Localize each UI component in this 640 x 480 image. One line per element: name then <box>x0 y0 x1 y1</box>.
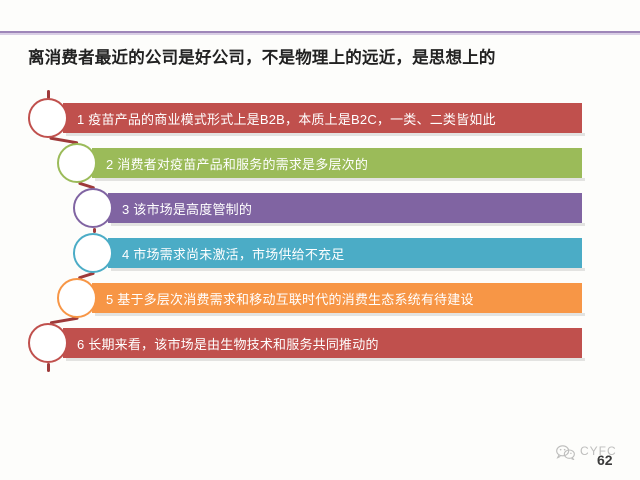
funnel-bar-label: 6 长期来看，该市场是由生物技术和服务共同推动的 <box>63 334 379 353</box>
funnel-bar-label: 5 基于多层次消费需求和移动互联时代的消费生态系统有待建设 <box>92 289 474 308</box>
funnel-bar-4[interactable]: 4 市场需求尚未激活，市场供给不充足 <box>108 238 582 268</box>
funnel-row: 5 基于多层次消费需求和移动互联时代的消费生态系统有待建设 <box>0 283 640 313</box>
bar-shadow <box>95 313 585 316</box>
step-bubble-6[interactable] <box>28 323 68 363</box>
slide-canvas: 离消费者最近的公司是好公司，不是物理上的远近，是思想上的 1 疫苗产品的商业模式… <box>0 0 640 480</box>
funnel-bar-2[interactable]: 2 消费者对疫苗产品和服务的需求是多层次的 <box>92 148 582 178</box>
funnel-bar-label: 1 疫苗产品的商业模式形式上是B2B，本质上是B2C，一类、二类皆如此 <box>63 109 496 128</box>
bar-shadow <box>95 178 585 181</box>
funnel-list: 1 疫苗产品的商业模式形式上是B2B，本质上是B2C，一类、二类皆如此2 消费者… <box>0 0 640 480</box>
bar-shadow <box>66 358 585 361</box>
funnel-row: 6 长期来看，该市场是由生物技术和服务共同推动的 <box>0 328 640 358</box>
funnel-row: 2 消费者对疫苗产品和服务的需求是多层次的 <box>0 148 640 178</box>
funnel-bar-1[interactable]: 1 疫苗产品的商业模式形式上是B2B，本质上是B2C，一类、二类皆如此 <box>63 103 582 133</box>
wechat-icon <box>556 445 576 460</box>
step-bubble-1[interactable] <box>28 98 68 138</box>
step-bubble-3[interactable] <box>73 188 113 228</box>
funnel-row: 4 市场需求尚未激活，市场供给不充足 <box>0 238 640 268</box>
bar-shadow <box>66 133 585 136</box>
funnel-bar-6[interactable]: 6 长期来看，该市场是由生物技术和服务共同推动的 <box>63 328 582 358</box>
funnel-row: 1 疫苗产品的商业模式形式上是B2B，本质上是B2C，一类、二类皆如此 <box>0 103 640 133</box>
funnel-bar-label: 4 市场需求尚未激活，市场供给不充足 <box>108 244 344 263</box>
step-bubble-4[interactable] <box>73 233 113 273</box>
page-number: 62 <box>597 452 613 468</box>
watermark: CYFC <box>556 443 626 465</box>
bar-shadow <box>111 223 585 226</box>
bar-shadow <box>111 268 585 271</box>
step-bubble-5[interactable] <box>57 278 97 318</box>
funnel-bar-3[interactable]: 3 该市场是高度管制的 <box>108 193 582 223</box>
funnel-bar-label: 3 该市场是高度管制的 <box>108 199 252 218</box>
funnel-row: 3 该市场是高度管制的 <box>0 193 640 223</box>
funnel-bar-label: 2 消费者对疫苗产品和服务的需求是多层次的 <box>92 154 368 173</box>
funnel-bar-5[interactable]: 5 基于多层次消费需求和移动互联时代的消费生态系统有待建设 <box>92 283 582 313</box>
step-bubble-2[interactable] <box>57 143 97 183</box>
step-connector-end <box>47 363 50 372</box>
